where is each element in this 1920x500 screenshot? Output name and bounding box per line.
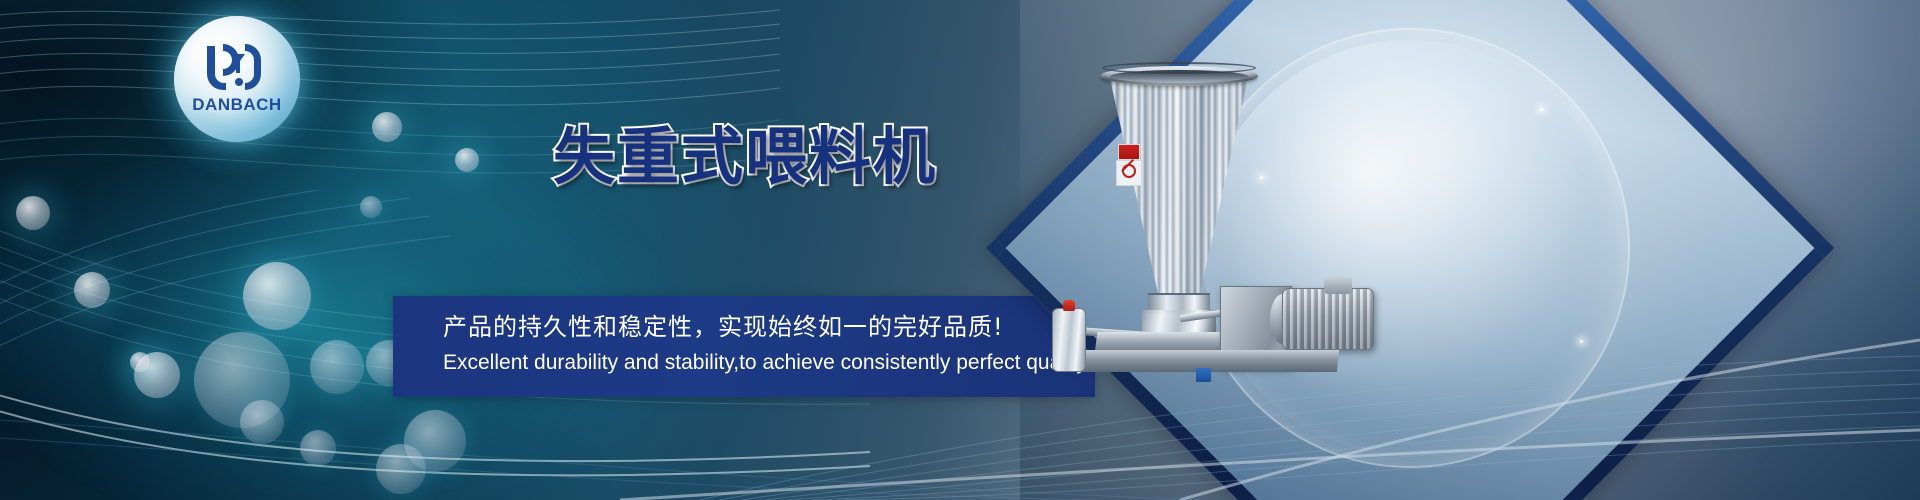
drive-motor	[1282, 288, 1374, 350]
bubble	[243, 262, 311, 330]
blue-chip	[1196, 368, 1211, 382]
page-title: 失重式喂料机	[553, 124, 937, 190]
bubble	[376, 444, 426, 494]
bubble	[74, 272, 110, 308]
sparkle-icon	[1580, 340, 1583, 343]
bubble	[130, 352, 150, 372]
bubble	[455, 148, 479, 172]
caption-english: Excellent durability and stability,to ac…	[443, 350, 1093, 376]
brand-logo[interactable]: DANBACH	[174, 16, 300, 142]
load-cell-cylinder	[1052, 308, 1086, 372]
bubble	[310, 340, 364, 394]
bubble	[372, 112, 402, 142]
bubble	[240, 400, 284, 444]
bubble	[16, 196, 50, 230]
clamp-ring	[1102, 62, 1256, 74]
bubble	[360, 196, 382, 218]
motor-terminal-box	[1324, 276, 1352, 294]
caption-box: 产品的持久性和稳定性，实现始终如一的完好品质! Excellent durabi…	[393, 296, 1095, 397]
sparkle-icon	[1540, 108, 1543, 111]
caption-chinese: 产品的持久性和稳定性，实现始终如一的完好品质!	[443, 312, 1004, 342]
warning-label-red	[1118, 144, 1140, 160]
product-image	[1030, 50, 1380, 360]
logo-wordmark: DANBACH	[174, 95, 300, 115]
product-banner: DANBACH 失重式喂料机 产品的持久性和稳定性，实现始终如一的完好品质! E…	[0, 0, 1920, 500]
danbach-monogram-icon	[201, 42, 273, 97]
bubble	[300, 430, 336, 466]
red-indicator-knob	[1063, 300, 1075, 311]
